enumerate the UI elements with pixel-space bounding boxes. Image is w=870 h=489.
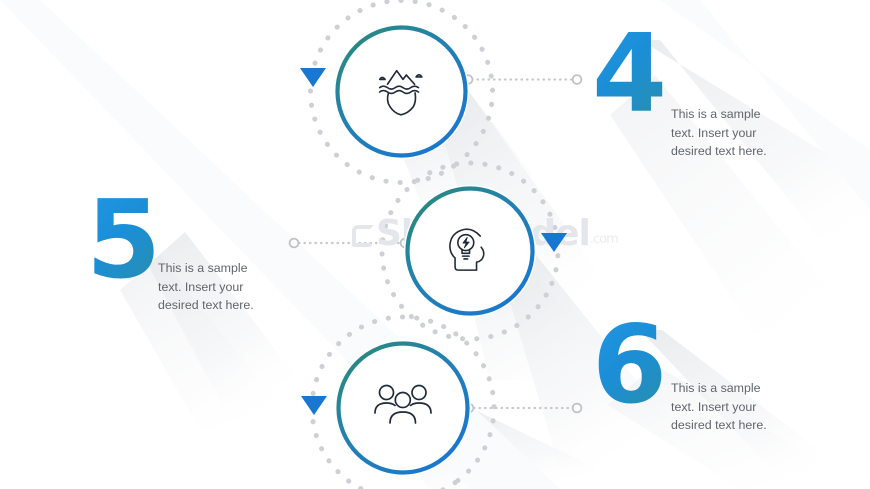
- triangle-marker-middle: [541, 233, 567, 252]
- step-circle-6[interactable]: [335, 340, 471, 476]
- slide-canvas: SlideModel.com: [0, 0, 870, 489]
- step-circle-4[interactable]: [334, 24, 469, 159]
- step-text-5: This is a sample text. Insert your desir…: [158, 259, 270, 315]
- step-text-4: This is a sample text. Insert your desir…: [671, 105, 783, 161]
- step-number-5: 5: [86, 187, 159, 295]
- step-number-6: 6: [592, 312, 665, 420]
- slidemodel-logo-icon: [352, 225, 374, 247]
- triangle-marker-top: [300, 68, 326, 87]
- head-lightbulb-idea-icon: [442, 223, 498, 279]
- triangle-marker-bottom: [301, 396, 327, 415]
- step-number-4: 4: [592, 21, 665, 129]
- connector-bottom: [465, 404, 582, 413]
- step-circle-5[interactable]: [404, 185, 536, 317]
- iceberg-icon: [371, 61, 433, 123]
- step-text-6: This is a sample text. Insert your desir…: [671, 379, 783, 435]
- connector-top: [464, 75, 582, 84]
- watermark-tld: .com: [590, 232, 618, 247]
- people-group-icon: [371, 383, 435, 433]
